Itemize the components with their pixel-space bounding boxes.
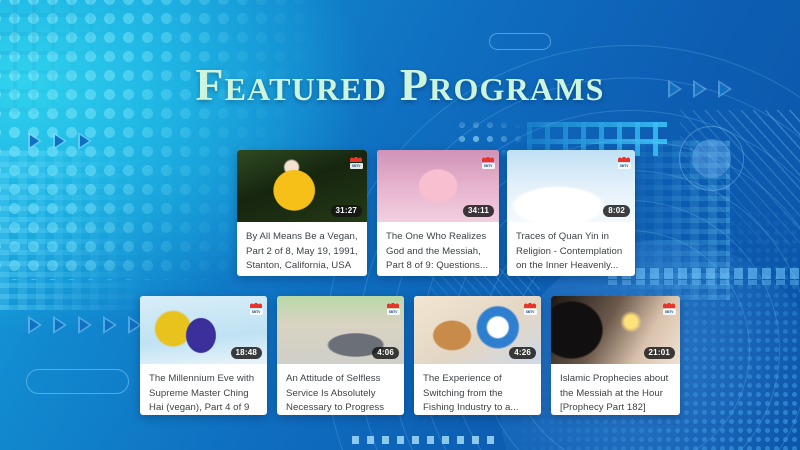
lotus-icon: [482, 153, 494, 162]
lotus-icon: [618, 153, 630, 162]
program-card[interactable]: SMTV 34:11 The One Who Realizes God and …: [377, 150, 499, 276]
channel-logo-icon: SMTV: [249, 299, 263, 316]
channel-logo-label: SMTV: [387, 309, 400, 315]
lotus-icon: [250, 299, 262, 308]
duration-badge: 34:11: [463, 205, 494, 217]
program-thumbnail[interactable]: SMTV 31:27: [237, 150, 367, 222]
program-thumbnail[interactable]: SMTV 21:01: [551, 296, 680, 364]
program-card[interactable]: SMTV 8:02 Traces of Quan Yin in Religion…: [507, 150, 635, 276]
duration-badge: 18:48: [231, 347, 262, 359]
channel-logo-icon: SMTV: [481, 153, 495, 170]
channel-logo-icon: SMTV: [386, 299, 400, 316]
program-title: The Experience of Switching from the Fis…: [414, 364, 541, 415]
channel-logo-label: SMTV: [482, 163, 495, 169]
featured-programs-screen: Featured Programs SMTV 31:27 By All Mean…: [0, 0, 800, 450]
program-title: An Attitude of Selfless Service Is Absol…: [277, 364, 404, 415]
duration-badge: 4:26: [509, 347, 536, 359]
lotus-icon: [387, 299, 399, 308]
program-card[interactable]: SMTV 21:01 Islamic Prophecies about the …: [551, 296, 680, 415]
channel-logo-label: SMTV: [250, 309, 263, 315]
channel-logo-icon: SMTV: [617, 153, 631, 170]
channel-logo-label: SMTV: [618, 163, 631, 169]
program-card[interactable]: SMTV 18:48 The Millennium Eve with Supre…: [140, 296, 267, 415]
channel-logo-label: SMTV: [524, 309, 537, 315]
program-thumbnail[interactable]: SMTV 8:02: [507, 150, 635, 222]
channel-logo-icon: SMTV: [349, 153, 363, 170]
program-card[interactable]: SMTV 4:26 The Experience of Switching fr…: [414, 296, 541, 415]
lotus-icon: [663, 299, 675, 308]
channel-logo-icon: SMTV: [662, 299, 676, 316]
program-title: Traces of Quan Yin in Religion - Contemp…: [507, 222, 635, 276]
duration-badge: 21:01: [644, 347, 675, 359]
program-title: By All Means Be a Vegan, Part 2 of 8, Ma…: [237, 222, 367, 276]
program-card[interactable]: SMTV 4:06 An Attitude of Selfless Servic…: [277, 296, 404, 415]
program-thumbnail[interactable]: SMTV 18:48: [140, 296, 267, 364]
channel-logo-icon: SMTV: [523, 299, 537, 316]
duration-badge: 31:27: [331, 205, 362, 217]
duration-badge: 8:02: [603, 205, 630, 217]
lotus-icon: [524, 299, 536, 308]
program-thumbnail[interactable]: SMTV 34:11: [377, 150, 499, 222]
program-thumbnail[interactable]: SMTV 4:06: [277, 296, 404, 364]
program-card-grid: SMTV 31:27 By All Means Be a Vegan, Part…: [0, 0, 800, 450]
program-card[interactable]: SMTV 31:27 By All Means Be a Vegan, Part…: [237, 150, 367, 276]
program-thumbnail[interactable]: SMTV 4:26: [414, 296, 541, 364]
program-title: The Millennium Eve with Supreme Master C…: [140, 364, 267, 415]
lotus-icon: [350, 153, 362, 162]
channel-logo-label: SMTV: [350, 163, 363, 169]
duration-badge: 4:06: [372, 347, 399, 359]
program-title: Islamic Prophecies about the Messiah at …: [551, 364, 680, 415]
program-title: The One Who Realizes God and the Messiah…: [377, 222, 499, 276]
channel-logo-label: SMTV: [663, 309, 676, 315]
